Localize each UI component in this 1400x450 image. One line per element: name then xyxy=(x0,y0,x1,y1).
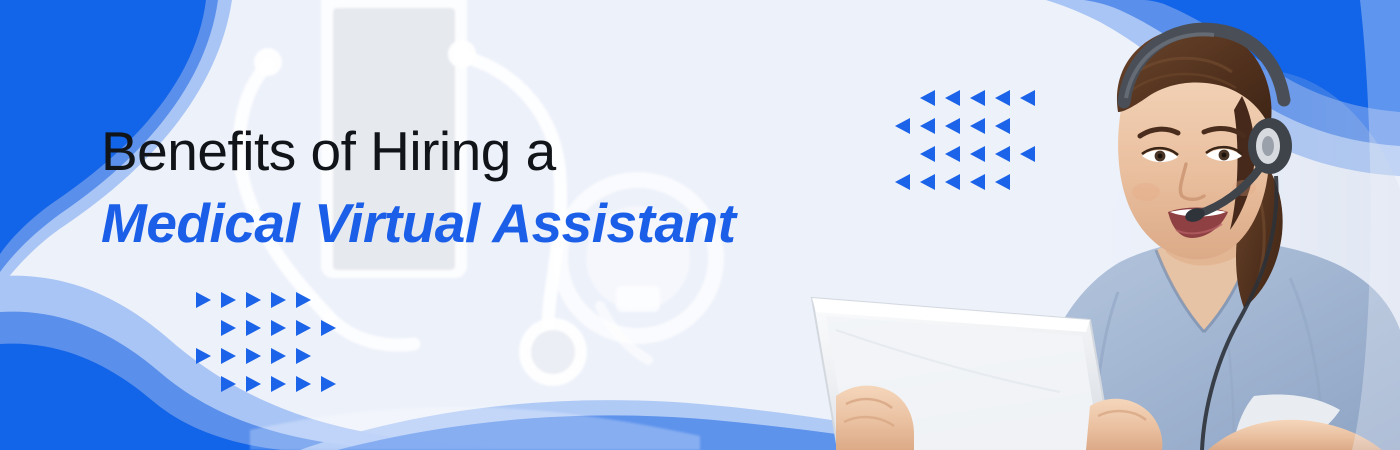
triangle-right-icon xyxy=(296,320,311,336)
triangle-right-icon xyxy=(271,292,286,308)
triangle-left-icon xyxy=(970,118,985,134)
triangle-right-icon xyxy=(221,320,236,336)
triangle-left-icon xyxy=(970,146,985,162)
triangle-row xyxy=(221,376,346,392)
triangle-left-icon xyxy=(970,90,985,106)
triangle-row xyxy=(920,146,1045,162)
triangle-left-icon xyxy=(995,90,1010,106)
triangle-left-icon xyxy=(945,118,960,134)
triangle-left-icon xyxy=(920,146,935,162)
triangle-left-icon xyxy=(995,146,1010,162)
triangle-row xyxy=(221,320,346,336)
triangle-right-icon xyxy=(271,320,286,336)
triangle-row xyxy=(895,174,1045,190)
triangle-left-icon xyxy=(895,118,910,134)
banner-root: Benefits of Hiring a Medical Virtual Ass… xyxy=(0,0,1400,450)
triangle-row xyxy=(196,348,346,364)
triangle-pattern-left xyxy=(196,292,346,404)
triangle-left-icon xyxy=(895,174,910,190)
triangle-left-icon xyxy=(945,146,960,162)
triangle-left-icon xyxy=(920,174,935,190)
triangle-row xyxy=(196,292,346,308)
triangle-row xyxy=(895,118,1045,134)
triangle-right-icon xyxy=(221,348,236,364)
triangle-left-icon xyxy=(945,174,960,190)
headline-block: Benefits of Hiring a Medical Virtual Ass… xyxy=(101,120,881,255)
triangle-right-icon xyxy=(246,292,261,308)
triangle-left-icon xyxy=(995,174,1010,190)
headset-earcup xyxy=(1248,118,1292,174)
triangle-left-icon xyxy=(995,118,1010,134)
triangle-right-icon xyxy=(221,376,236,392)
triangle-right-icon xyxy=(271,348,286,364)
headline-line-1: Benefits of Hiring a xyxy=(101,120,881,182)
triangle-row xyxy=(920,90,1045,106)
headline-line-2: Medical Virtual Assistant xyxy=(101,191,881,255)
triangle-right-icon xyxy=(321,376,336,392)
triangle-right-icon xyxy=(321,320,336,336)
triangle-right-icon xyxy=(296,376,311,392)
triangle-right-icon xyxy=(271,376,286,392)
triangle-right-icon xyxy=(196,348,211,364)
triangle-pattern-right xyxy=(895,90,1045,202)
triangle-left-icon xyxy=(970,174,985,190)
triangle-right-icon xyxy=(296,348,311,364)
triangle-right-icon xyxy=(296,292,311,308)
triangle-left-icon xyxy=(920,90,935,106)
triangle-left-icon xyxy=(1020,90,1035,106)
triangle-right-icon xyxy=(246,376,261,392)
triangle-left-icon xyxy=(1020,146,1035,162)
triangle-right-icon xyxy=(246,348,261,364)
triangle-right-icon xyxy=(196,292,211,308)
triangle-right-icon xyxy=(246,320,261,336)
triangle-left-icon xyxy=(920,118,935,134)
triangle-right-icon xyxy=(221,292,236,308)
triangle-left-icon xyxy=(945,90,960,106)
